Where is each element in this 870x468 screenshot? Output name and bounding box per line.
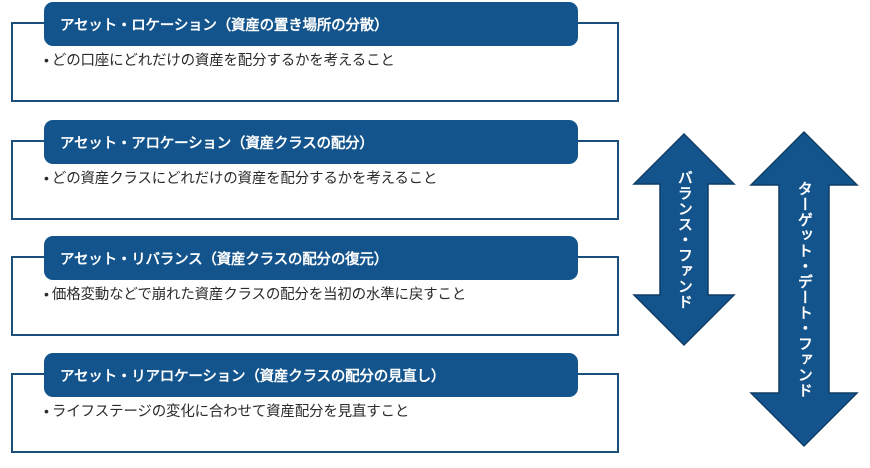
block-body: • ライフステージの変化に合わせて資産配分を見直すこと xyxy=(44,403,604,421)
block-bullet-text: ライフステージの変化に合わせて資産配分を見直すこと xyxy=(52,403,409,421)
arrow-target-date-fund: ターゲット・デート・ファンド xyxy=(749,130,859,448)
block-header-text: アセット・ロケーション（資産の置き場所の分散） xyxy=(44,14,388,35)
double-arrow-vertical-icon xyxy=(749,130,859,448)
block-bullet-text: どの資産クラスにどれだけの資産を配分するかを考えること xyxy=(52,170,437,188)
bullet-marker-icon: • xyxy=(44,170,49,187)
block-body: • 価格変動などで崩れた資産クラスの配分を当初の水準に戻すこと xyxy=(44,286,604,304)
bullet-marker-icon: • xyxy=(44,403,49,420)
block-bullet-text: 価格変動などで崩れた資産クラスの配分を当初の水準に戻すこと xyxy=(52,286,466,304)
block-header-text: アセット・アロケーション（資産クラスの配分） xyxy=(44,132,374,153)
block-header-text: アセット・リアロケーション（資産クラスの配分の見直し） xyxy=(44,365,445,386)
block-body: • どの資産クラスにどれだけの資産を配分するかを考えること xyxy=(44,170,604,188)
block-header-text: アセット・リバランス（資産クラスの配分の復元） xyxy=(44,248,388,269)
block-body: • どの口座にどれだけの資産を配分するかを考えること xyxy=(44,52,604,70)
bullet-marker-icon: • xyxy=(44,286,49,303)
block-header: アセット・ロケーション（資産の置き場所の分散） xyxy=(44,2,578,46)
arrow-balance-fund: バランス・ファンド xyxy=(632,132,736,347)
double-arrow-vertical-icon xyxy=(632,132,736,347)
block-header: アセット・リアロケーション（資産クラスの配分の見直し） xyxy=(44,353,578,397)
diagram-canvas: • どの口座にどれだけの資産を配分するかを考えること アセット・ロケーション（資… xyxy=(0,0,870,468)
block-header: アセット・リバランス（資産クラスの配分の復元） xyxy=(44,236,578,280)
block-header: アセット・アロケーション（資産クラスの配分） xyxy=(44,120,578,164)
bullet-marker-icon: • xyxy=(44,52,49,69)
block-bullet-text: どの口座にどれだけの資産を配分するかを考えること xyxy=(52,52,395,70)
